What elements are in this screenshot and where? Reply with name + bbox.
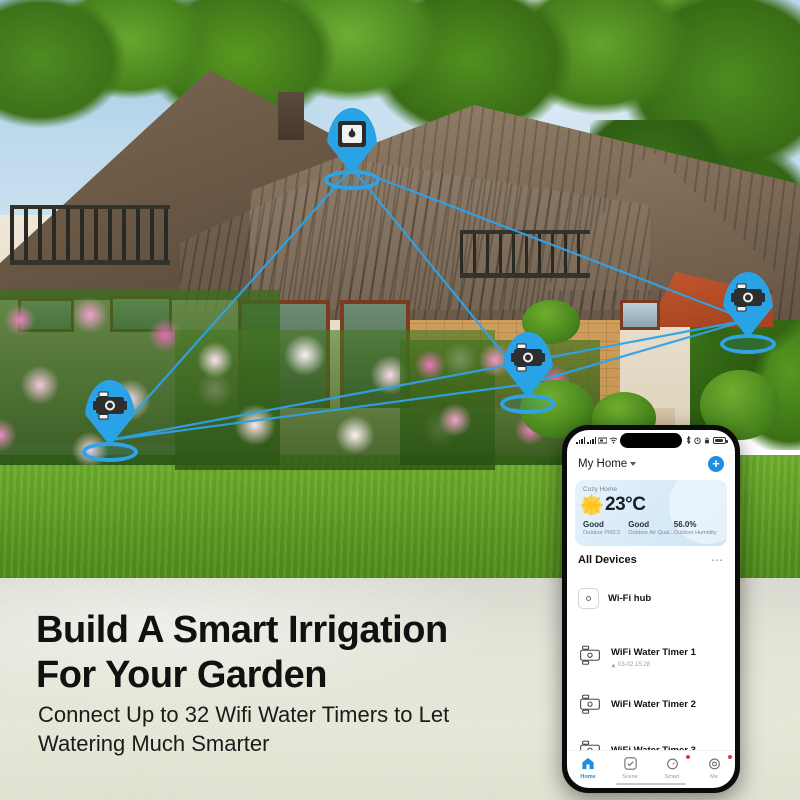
subline-line-1: Connect Up to 32 Wifi Water Timers to Le… xyxy=(38,700,538,729)
stat-label: Outdoor Humidity xyxy=(674,530,719,536)
wifi-icon xyxy=(609,437,618,444)
tab-scene[interactable]: Scene xyxy=(609,756,651,780)
bluetooth-icon xyxy=(686,436,691,444)
device-name: WiFi Water Timer 2 xyxy=(611,699,696,710)
add-device-button[interactable]: + xyxy=(708,456,724,472)
water-timer-icon xyxy=(578,694,602,715)
tab-smart[interactable]: Smart xyxy=(651,756,693,780)
link-hub-to-timer3 xyxy=(352,168,748,320)
list-item[interactable]: WiFi Water Timer 2 xyxy=(578,684,724,724)
subline-line-2: Watering Much Smarter xyxy=(38,729,538,758)
status-bar xyxy=(567,430,735,450)
badge-dot xyxy=(686,755,690,759)
lock-icon xyxy=(704,437,710,444)
link-timer1-to-timer3 xyxy=(110,320,748,440)
weather-home-title: Cozy Home xyxy=(583,486,719,493)
ellipsis-icon[interactable]: ⋯ xyxy=(711,557,724,563)
device-name: Wi-Fi hub xyxy=(608,593,651,604)
signal-bars-icon xyxy=(576,437,585,444)
tab-label: Me xyxy=(693,774,735,780)
home-icon xyxy=(581,757,595,770)
promo-image: Build A Smart Irrigation For Your Garden… xyxy=(0,0,800,800)
home-name-label: My Home xyxy=(578,458,627,470)
list-item[interactable]: WiFi Water Timer 3 xyxy=(578,730,724,750)
list-item[interactable]: WiFi Water Timer 1 03-02 15:28 xyxy=(578,632,724,678)
weather-stat-air-quality: Good Outdoor Air Qual... xyxy=(628,520,674,536)
water-timer-icon xyxy=(578,645,602,666)
stat-value: Good xyxy=(628,520,674,529)
tab-label: Home xyxy=(567,774,609,780)
water-timer-pin-2[interactable] xyxy=(497,332,559,414)
headline-line-1: Build A Smart Irrigation xyxy=(36,608,546,653)
scene-icon xyxy=(624,757,637,770)
chevron-down-icon xyxy=(630,462,636,466)
water-timer-icon xyxy=(92,391,128,421)
phone-screen: My Home + Cozy Home 23°C Good xyxy=(567,430,735,788)
water-timer-icon xyxy=(730,283,766,313)
stat-label: Outdoor Air Qual... xyxy=(628,530,674,536)
promo-headline: Build A Smart Irrigation For Your Garden xyxy=(36,608,546,698)
stat-label: Outdoor PM2.5 xyxy=(583,530,628,536)
wifi-hub-icon xyxy=(578,588,599,609)
tab-me[interactable]: Me xyxy=(693,756,735,780)
device-list[interactable]: Wi-Fi hub WiFi Water Timer 1 03-02 15:28 xyxy=(567,570,735,750)
home-selector[interactable]: My Home xyxy=(578,458,636,470)
water-timer-icon xyxy=(578,740,602,751)
home-indicator xyxy=(616,783,686,786)
sun-icon xyxy=(583,497,600,514)
signal-bars-icon-2 xyxy=(587,437,596,444)
badge-dot xyxy=(728,755,732,759)
water-timer-pin-1[interactable] xyxy=(79,380,141,462)
battery-icon xyxy=(713,437,726,444)
weather-stats: Good Outdoor PM2.5 Good Outdoor Air Qual… xyxy=(583,520,719,536)
cellular-icon xyxy=(598,437,607,444)
device-timestamp: 03-02 15:28 xyxy=(611,662,696,668)
link-timer2-to-timer3 xyxy=(528,320,748,384)
hub-icon xyxy=(334,119,370,149)
device-name: WiFi Water Timer 1 xyxy=(611,647,696,658)
carousel-dots[interactable] xyxy=(583,538,719,546)
smart-icon xyxy=(666,757,679,770)
wifi-hub-pin[interactable] xyxy=(321,108,383,190)
tab-home[interactable]: Home xyxy=(567,756,609,780)
bottom-tab-bar: Home Scene xyxy=(567,750,735,788)
timestamp-value: 03-02 15:28 xyxy=(618,662,650,668)
weather-stat-pm25: Good Outdoor PM2.5 xyxy=(583,520,628,536)
phone-mockup: My Home + Cozy Home 23°C Good xyxy=(562,425,740,793)
dynamic-island xyxy=(620,433,682,448)
weather-stat-humidity: 56.0% Outdoor Humidity xyxy=(674,520,719,536)
link-timer1-to-timer2 xyxy=(110,384,528,440)
section-title: All Devices xyxy=(578,554,637,566)
me-icon xyxy=(708,757,721,770)
water-timer-pin-3[interactable] xyxy=(717,272,779,354)
list-item[interactable]: Wi-Fi hub xyxy=(578,578,724,618)
all-devices-header: All Devices ⋯ xyxy=(567,546,735,570)
stat-value: Good xyxy=(583,520,628,529)
link-hub-to-timer1 xyxy=(110,168,352,440)
tab-label: Scene xyxy=(609,774,651,780)
temperature-value: 23°C xyxy=(605,494,645,516)
app-header: My Home + xyxy=(567,450,735,478)
upload-arrow-icon xyxy=(611,663,616,668)
promo-subline: Connect Up to 32 Wifi Water Timers to Le… xyxy=(38,700,538,758)
alarm-icon xyxy=(694,437,701,444)
weather-card[interactable]: Cozy Home 23°C Good Outdoor PM2.5 Good xyxy=(575,480,727,546)
headline-line-2: For Your Garden xyxy=(36,653,546,698)
stat-value: 56.0% xyxy=(674,520,719,529)
tab-label: Smart xyxy=(651,774,693,780)
water-timer-icon xyxy=(510,343,546,373)
